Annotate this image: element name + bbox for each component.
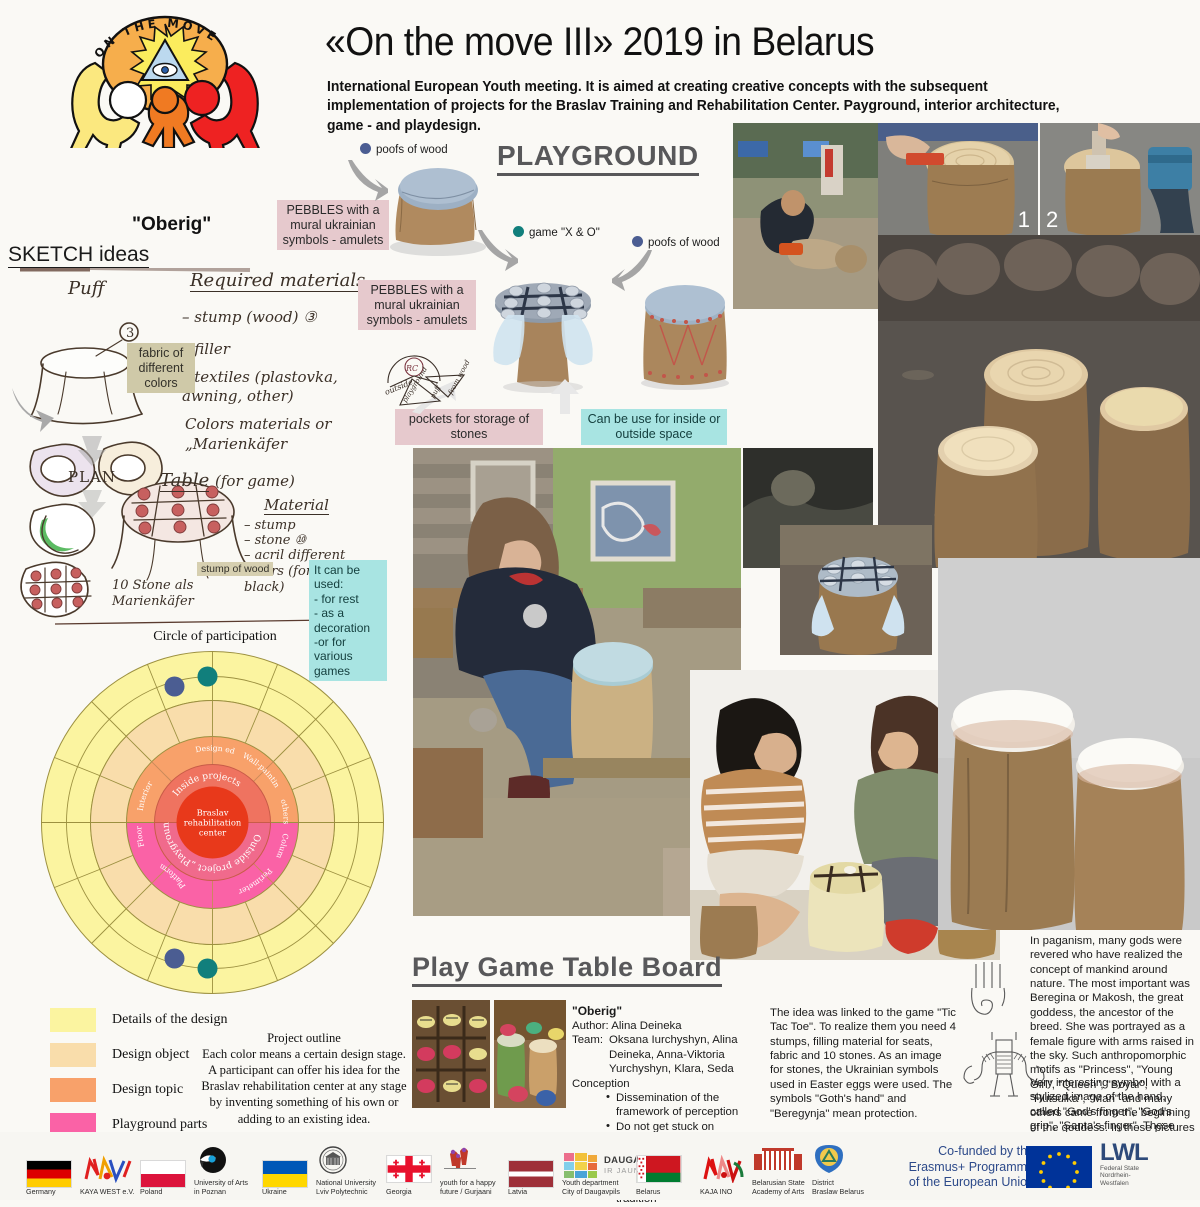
conception-item: Dissemination of the framework of percep… — [606, 1091, 768, 1120]
logo-kaja-ino-icon — [700, 1155, 746, 1183]
footer-caption: Poland — [140, 1188, 186, 1196]
photo-painted-stones-grid — [412, 1000, 490, 1108]
footer-caption: Belarus — [636, 1188, 682, 1196]
photo-painted-stumps — [494, 1000, 566, 1108]
eu-flag-icon — [1026, 1146, 1092, 1188]
oberig-author-line: Author: Alina Deineka — [572, 1019, 768, 1033]
footer-partner-germany: Germany — [26, 1160, 72, 1196]
footer-partner-kaja-ino: KAJA INO — [700, 1155, 746, 1196]
legend-label-playground: Playground parts — [112, 1117, 207, 1133]
blue-dot-icon-2 — [632, 236, 643, 247]
rc-outside-sketch: RC outside playground puff from wood — [378, 345, 483, 410]
footer-caption: Ukraine — [262, 1188, 308, 1196]
project-outline: Project outline Each color means a certa… — [198, 1030, 410, 1127]
footer-partner-latvia: Latvia — [508, 1160, 554, 1196]
from-wood-label: from wood — [446, 358, 472, 397]
photo-step-number-2: 2 — [1046, 207, 1058, 233]
arrow-icon-3 — [612, 248, 652, 292]
colors-materials-note: Colors materials or „Marienkäfer — [185, 415, 375, 454]
erasmus-text: Co-funded by the Erasmus+ Programme of t… — [884, 1144, 1034, 1191]
material-item-2: – stone ⑩ — [244, 533, 306, 548]
lwl-logo-text: LWL — [1100, 1142, 1148, 1165]
teal-dot-deco-top — [198, 667, 218, 687]
fabric-chip: fabric of different colors — [127, 343, 195, 393]
footer-caption: KAYA WEST e.V. — [80, 1188, 134, 1196]
footer-partner-bsaa: Belarusian State Academy of Arts — [752, 1146, 805, 1196]
footer-partner-belarus: Belarus — [636, 1155, 682, 1196]
legend-label-object: Design object — [112, 1047, 189, 1063]
game-xo-label: game "X & O" — [513, 226, 600, 239]
stone-note: 10 Stone als Marienkäfer — [112, 578, 222, 611]
circle-of-participation-chart: Inside projects Outside project „Playgro… — [40, 650, 385, 995]
table-title: Table (for game) — [160, 470, 295, 492]
logo-daugavpils-icon — [562, 1151, 600, 1179]
required-material-3: – textiles (plastovka, awning, other) — [182, 368, 372, 406]
photo-step-2-painting: 2 — [1040, 123, 1200, 235]
logo-gurjaani-icon — [440, 1146, 480, 1174]
material-title: Material — [264, 496, 329, 515]
project-outline-title: Project outline — [198, 1030, 410, 1046]
inside-outside-chip: Can be use for inside or outside space — [581, 409, 727, 445]
circle-center-line3: center — [199, 828, 226, 838]
logo-bsaa-icon — [752, 1146, 804, 1174]
team-label: Team: — [572, 1033, 609, 1076]
playground-heading: PLAYGROUND — [497, 140, 699, 176]
photo-step-number-1: 1 — [1018, 207, 1030, 233]
footer-caption: Germany — [26, 1188, 72, 1196]
circle-of-participation-title: Circle of participation — [100, 628, 330, 646]
rc-label: RC — [405, 364, 418, 373]
project-outline-text: Each color means a certain design stage.… — [198, 1046, 410, 1127]
flag-ge-icon — [386, 1155, 432, 1183]
required-materials-title: Required materials — [190, 270, 365, 292]
footer-caption: KAJA INO — [700, 1188, 746, 1196]
stump-of-wood-chip: stump of wood — [197, 562, 273, 576]
pebbles-chip-2: PEBBLES with a mural ukrainian symbols -… — [358, 280, 476, 330]
page-title-text: «On the move III» 2019 in Belarus — [325, 22, 1032, 62]
legend-label-topic: Design topic — [112, 1082, 183, 1098]
tic-tac-toe-idea-text: The idea was linked to the game "Tic Tac… — [770, 1006, 958, 1121]
flag-pl-icon — [140, 1160, 186, 1188]
circle-center-line1: Braslav — [197, 808, 229, 818]
legend-item-details: Details of the design — [50, 1008, 227, 1032]
footer-caption: Latvia — [508, 1188, 554, 1196]
footer-partner-braslaw: District Braslaw Belarus — [812, 1144, 864, 1196]
photo-finished-poofs — [938, 558, 1200, 930]
footer-caption: University of Arts in Poznan — [194, 1179, 248, 1196]
logo-lviv-icon — [316, 1146, 350, 1174]
blue-dot-icon — [360, 143, 371, 154]
footer-caption: District Braslaw Belarus — [812, 1179, 864, 1196]
footer-caption: National University Lviv Polytechnic — [316, 1179, 376, 1196]
flag-ua-icon — [262, 1160, 308, 1188]
sketch-puff-label: Puff — [68, 278, 104, 299]
sketch-plan-label: PLAN — [68, 468, 116, 486]
sketch-ideas-heading: SKETCH ideas — [8, 243, 149, 268]
arrow-icon-2 — [478, 228, 518, 272]
play-game-table-board-heading: Play Game Table Board — [412, 952, 722, 987]
oberig-project-name: "Oberig" — [572, 1004, 768, 1019]
legend-swatch-topic — [50, 1078, 96, 1102]
logo-poznan-icon: uap — [194, 1146, 228, 1174]
flag-by-icon — [636, 1155, 682, 1183]
erasmus-text-block: Co-funded by the Erasmus+ Programme of t… — [884, 1144, 1034, 1191]
footer-partner-ukraine: Ukraine — [262, 1160, 308, 1196]
lwl-logo-sub: Federal State Nordrhein- Westfalen — [1100, 1165, 1148, 1187]
arrow-icon-1 — [348, 158, 388, 202]
material-item-1: – stump — [244, 518, 296, 533]
footer-partner-georgia: Georgia — [386, 1155, 432, 1196]
circle-center-line2: rehabilitation — [184, 818, 242, 828]
conception-label: Conception — [572, 1077, 768, 1091]
footer-partner-gurjaani: youth for a happy future / Gurjaani — [440, 1146, 496, 1196]
footer: Germany KAYA WEST e.V. Poland uap Univer… — [0, 1132, 1200, 1200]
sketch-puff-count: 3 — [126, 326, 134, 341]
footer-caption: Belarusian State Academy of Arts — [752, 1179, 805, 1196]
footer-partner-lviv: National University Lviv Polytechnic — [316, 1146, 376, 1196]
footer-caption: youth for a happy future / Gurjaani — [440, 1179, 496, 1196]
legend-swatch-object — [50, 1043, 96, 1067]
photo-step-1-sanding: 1 — [878, 123, 1038, 235]
arrow-up-icon-2 — [538, 378, 598, 420]
legend-label-details: Details of the design — [112, 1012, 227, 1028]
puff-label-sk: puff — [429, 383, 443, 400]
flag-de-icon — [26, 1160, 72, 1188]
page-title: «On the move III» 2019 in Belarus — [325, 22, 1085, 62]
lwl-logo: LWL Federal State Nordrhein- Westfalen — [1100, 1142, 1148, 1187]
flag-lv-icon — [508, 1160, 554, 1188]
footer-partner-poland: Poland — [140, 1160, 186, 1196]
author-name: Alina Deineka — [611, 1020, 681, 1032]
footer-partner-poznan: uap University of Arts in Poznan — [194, 1146, 248, 1196]
footer-caption: Georgia — [386, 1188, 432, 1196]
blue-dot-deco-bottom — [165, 949, 185, 969]
logo-kaya-west-icon — [80, 1155, 134, 1183]
svg-text:uap: uap — [200, 1162, 204, 1168]
teal-dot-deco-bottom — [198, 959, 218, 979]
photo-stump-with-stones — [780, 525, 932, 655]
author-label: Author: — [572, 1020, 609, 1032]
legend-swatch-details — [50, 1008, 96, 1032]
oberig-team-line: Team: Oksana Iurchyshyn, Alina Deineka, … — [572, 1033, 768, 1076]
logo-braslaw-icon — [812, 1144, 846, 1174]
on-the-move-logo: ON THE MOVE — [40, 8, 290, 148]
photo-three-stumps — [878, 235, 1200, 568]
pebbles-chip-1: PEBBLES with a mural ukrainian symbols -… — [277, 200, 389, 250]
blue-dot-deco-top — [165, 677, 185, 697]
photo-chainsaw-log — [733, 123, 878, 309]
oberig-title: "Oberig" — [132, 214, 211, 236]
required-material-1: – stump (wood) ③ — [182, 308, 317, 326]
team-names: Oksana Iurchyshyn, Alina Deineka, Anna-V… — [609, 1033, 768, 1076]
footer-partner-kaya-west: KAYA WEST e.V. — [80, 1155, 134, 1196]
